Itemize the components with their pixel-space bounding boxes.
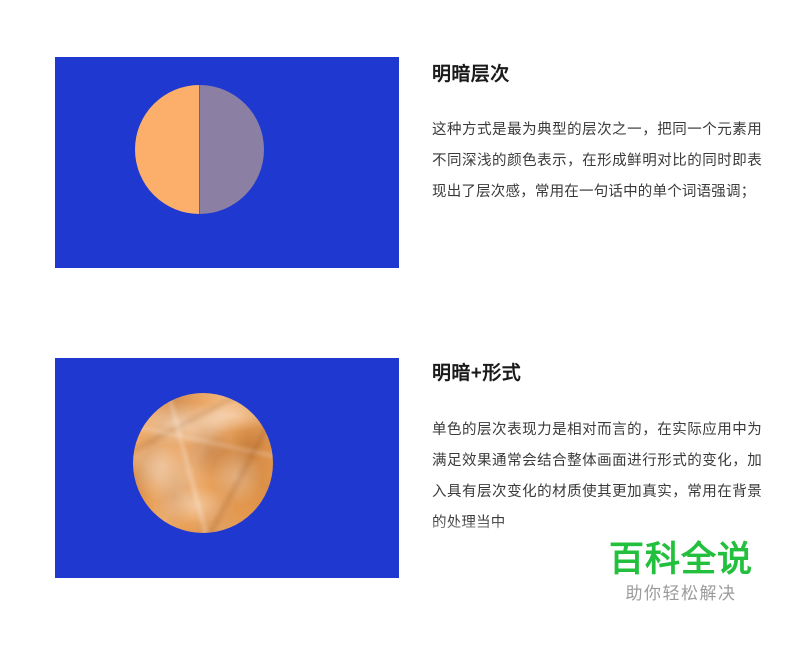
section-2-body: 单色的层次表现力是相对而言的，在实际应用中为满足效果通常会结合整体画面进行形式的… [432,415,762,539]
section-brightness-contrast: 明暗层次 这种方式是最为典型的层次之一，把同一个元素用不同深浅的颜色表示，在形成… [0,57,800,268]
text-column-1: 明暗层次 这种方式是最为典型的层次之一，把同一个元素用不同深浅的颜色表示，在形成… [432,62,762,208]
page-root: 明暗层次 这种方式是最为典型的层次之一，把同一个元素用不同深浅的颜色表示，在形成… [0,0,800,645]
split-circle-shape [135,85,264,214]
visual-panel-1 [55,57,399,268]
watermark-subtitle: 助你轻松解决 [596,583,766,605]
watermark-title: 百科全说 [596,540,766,580]
text-column-2: 明暗+形式 单色的层次表现力是相对而言的，在实际应用中为满足效果通常会结合整体画… [432,361,762,539]
textured-circle-shape [133,393,273,533]
section-1-body: 这种方式是最为典型的层次之一，把同一个元素用不同深浅的颜色表示，在形成鲜明对比的… [432,115,762,208]
section-2-heading: 明暗+形式 [432,361,762,387]
watermark: 百科全说 助你轻松解决 [596,540,766,605]
visual-panel-2 [55,358,399,578]
section-1-heading: 明暗层次 [432,62,762,88]
